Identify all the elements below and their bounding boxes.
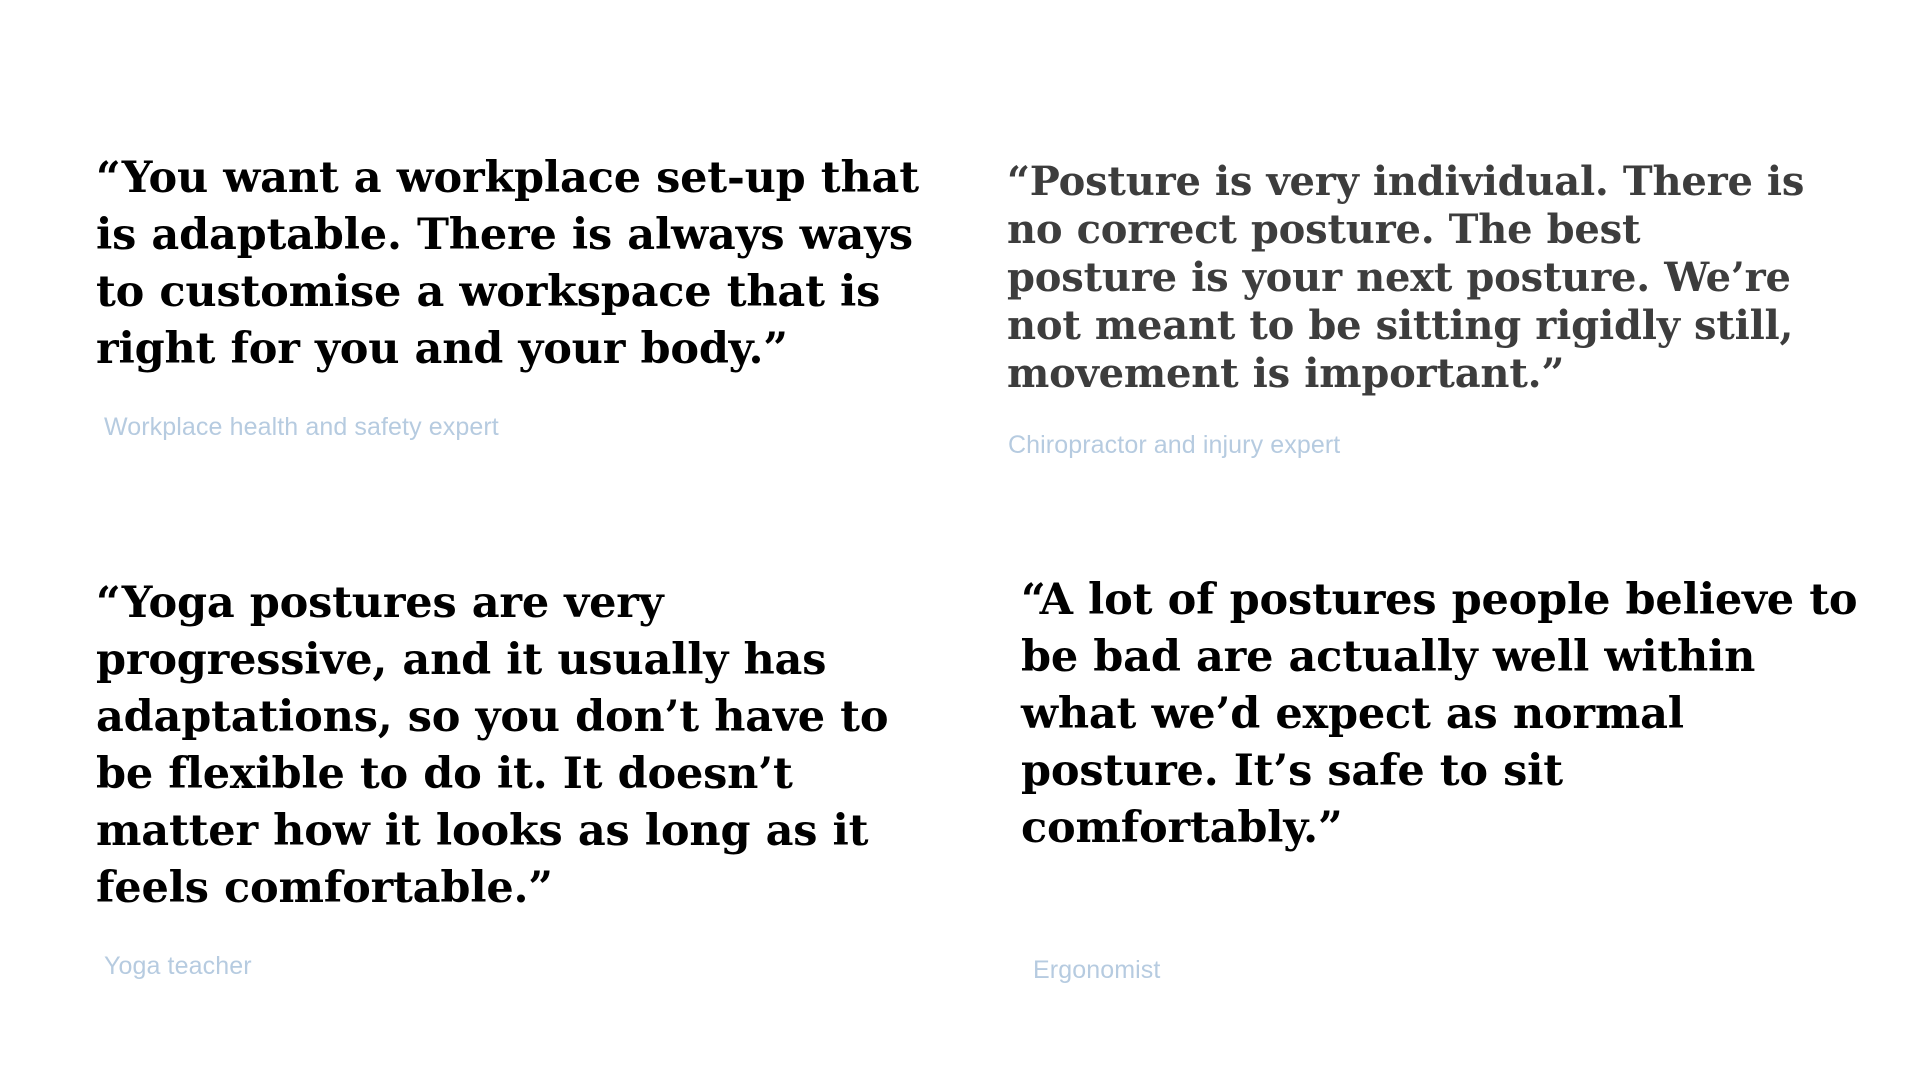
quote-text-4: “A lot of postures people believe to be …	[1021, 572, 1866, 857]
quote-attribution-4: Ergonomist	[1033, 955, 1871, 985]
quote-attribution-2: Chiropractor and injury expert	[1008, 430, 1837, 460]
pullquote-card-3: “Yoga postures are very progressive, and…	[96, 575, 946, 981]
quote-text-2: “Posture is very individual. There is no…	[1007, 158, 1822, 398]
pullquote-grid: “You want a workplace set-up that is ada…	[0, 0, 1920, 1080]
pullquote-card-2: “Posture is very individual. There is no…	[1007, 158, 1837, 460]
pullquote-card-4: “A lot of postures people believe to be …	[1021, 572, 1871, 985]
quote-text-3: “Yoga postures are very progressive, and…	[96, 575, 941, 917]
pullquote-card-1: “You want a workplace set-up that is ada…	[96, 150, 936, 442]
quote-text-1: “You want a workplace set-up that is ada…	[96, 150, 926, 378]
quote-attribution-3: Yoga teacher	[104, 951, 946, 981]
quote-attribution-1: Workplace health and safety expert	[104, 412, 936, 442]
